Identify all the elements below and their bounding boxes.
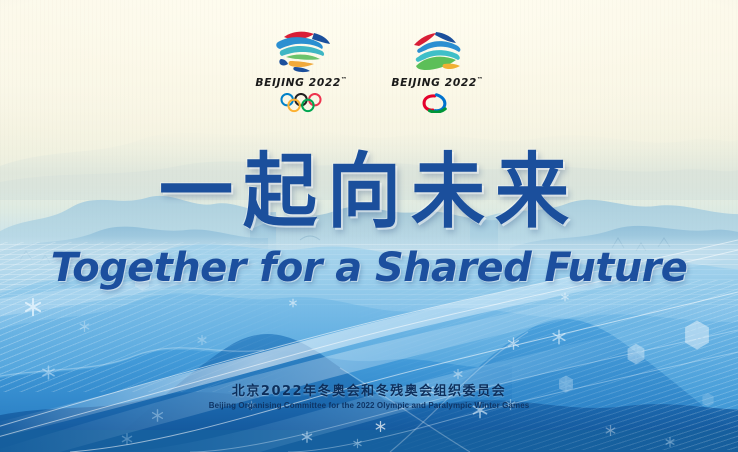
snowflake-icon [22, 296, 44, 318]
snowflake-icon [288, 298, 298, 308]
snowflake-icon [550, 328, 568, 346]
committee-name-english: Beijing Organising Committee for the 202… [0, 401, 738, 410]
slogan-english: Together for a Shared Future [0, 248, 738, 288]
winter-dream-emblem-icon [264, 26, 338, 74]
snowflake-icon [506, 336, 521, 351]
snowflake-icon [300, 430, 314, 444]
committee-name-chinese: 北京2022年冬奥会和冬残奥会组织委员会 [0, 380, 738, 399]
paralympic-agitos-icon [416, 92, 458, 114]
snowflake-icon [78, 320, 91, 333]
flying-emblem-icon [400, 26, 474, 74]
paralympic-emblem-block: BEIJING 2022™ [381, 26, 493, 114]
paralympic-wordmark: BEIJING 2022™ [391, 76, 483, 89]
snowflake-icon [120, 432, 134, 446]
snowflake-icon [680, 318, 714, 352]
snowflake-icon [196, 334, 208, 346]
beijing-2022-slogan-poster: BEIJING 2022™ [0, 0, 738, 452]
snowflake-icon [40, 364, 57, 381]
olympic-wordmark: BEIJING 2022™ [255, 76, 347, 89]
emblem-row: BEIJING 2022™ [0, 26, 738, 114]
olympic-emblem-block: BEIJING 2022™ [245, 26, 357, 114]
committee-footer: 北京2022年冬奥会和冬残奥会组织委员会 Beijing Organising … [0, 380, 738, 410]
snowflake-icon [604, 424, 617, 437]
olympic-rings-icon [273, 92, 329, 114]
slogan-chinese: 一起向未来 [0, 151, 738, 232]
snowflake-icon [374, 420, 387, 433]
snowflake-icon [664, 436, 676, 448]
snowflake-icon [452, 368, 464, 380]
snowflake-icon [624, 342, 648, 366]
snowflake-icon [150, 408, 165, 423]
snowflake-icon [560, 292, 570, 302]
snowflake-icon [352, 438, 363, 449]
